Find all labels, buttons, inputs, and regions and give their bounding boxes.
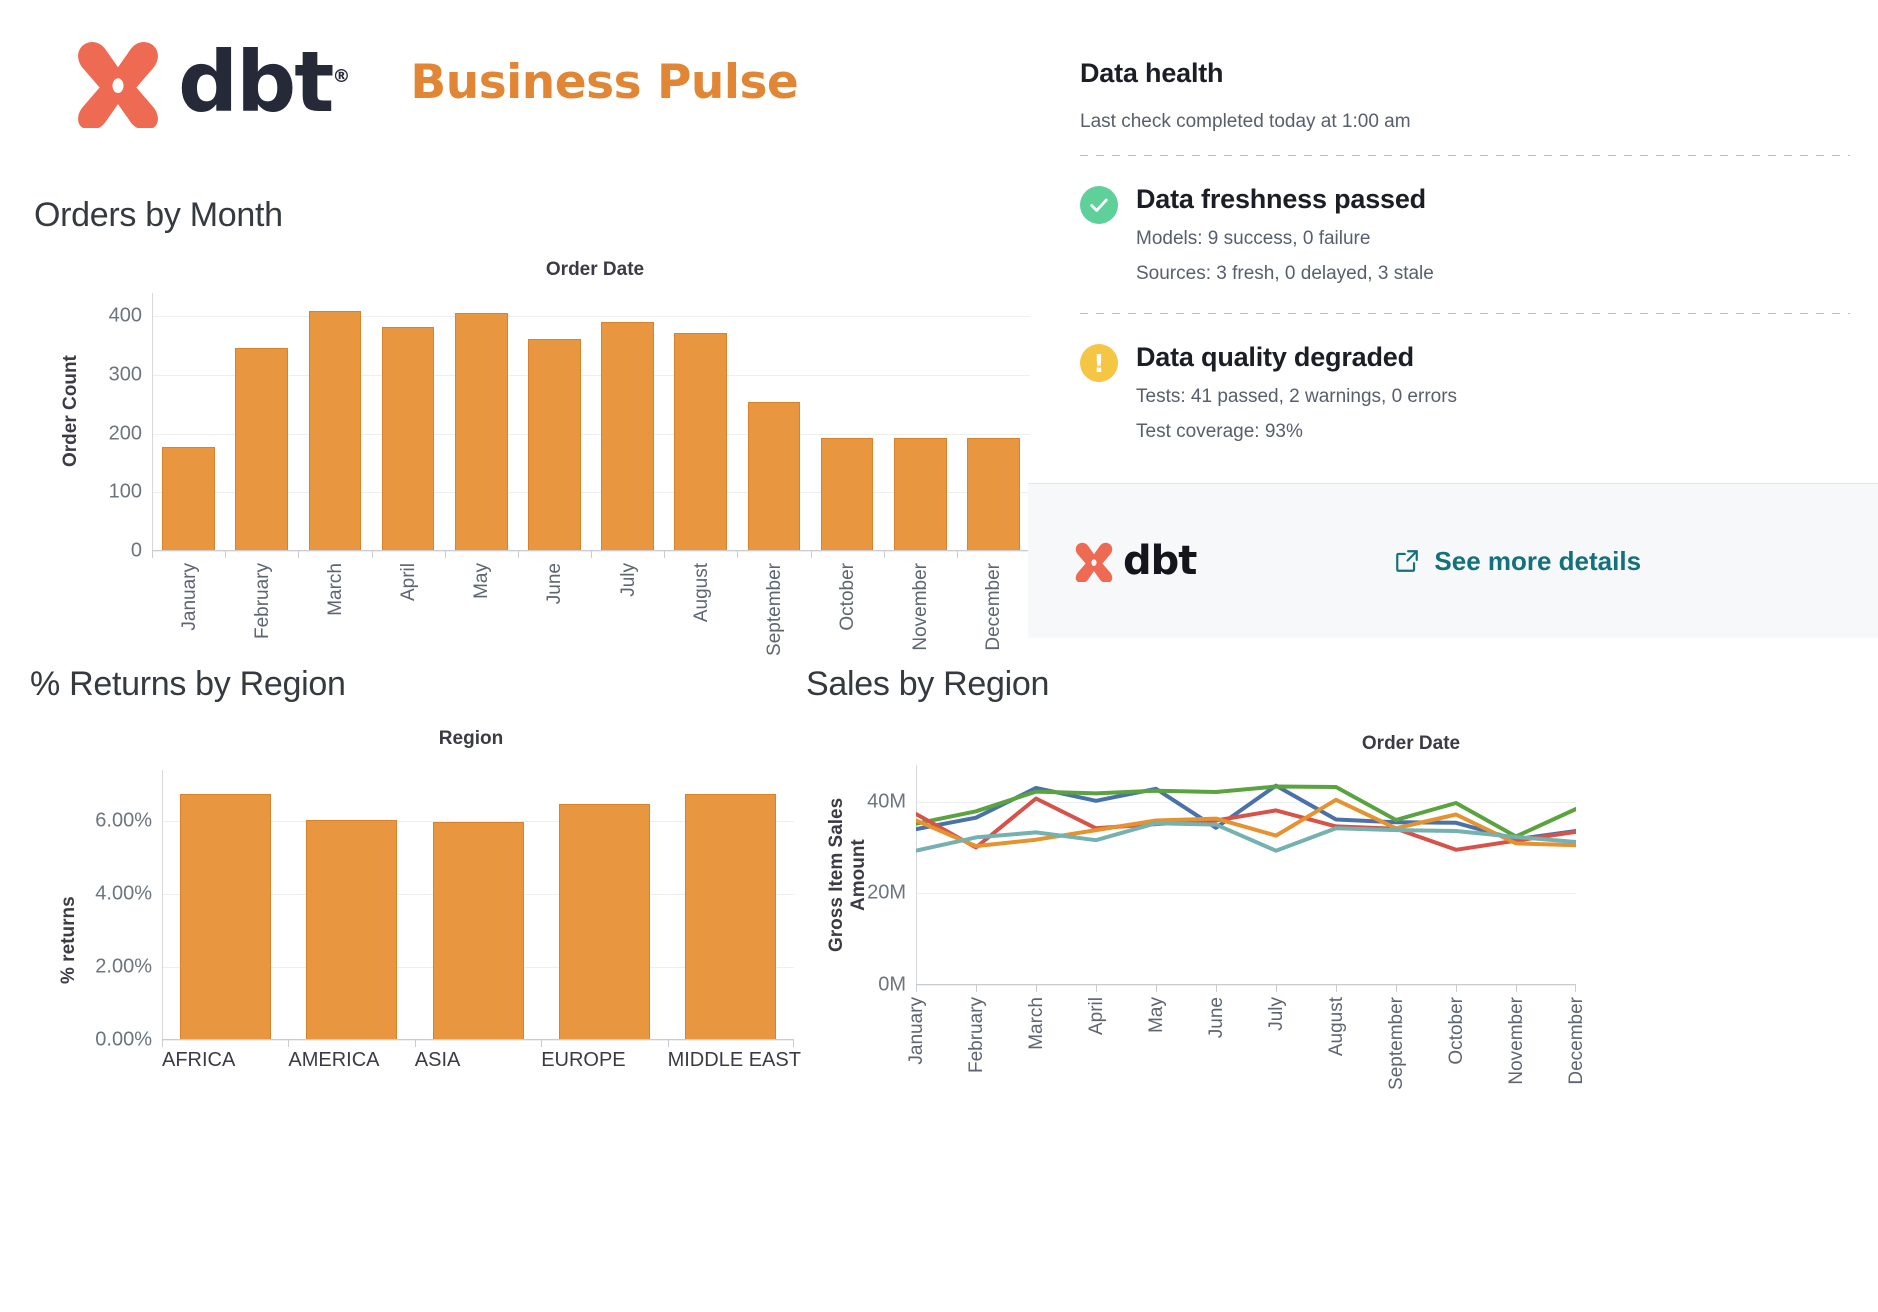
sales-y-tick-labels: 0M20M40M	[840, 765, 906, 985]
bar-cell[interactable]	[225, 293, 298, 551]
gridline	[162, 1040, 794, 1041]
x-tick-label: August	[1326, 997, 1348, 1061]
bar[interactable]	[528, 339, 581, 551]
x-tick-mark	[415, 1040, 416, 1047]
bar-cell[interactable]	[811, 293, 884, 551]
bar[interactable]	[748, 402, 801, 551]
x-tick-label: October	[837, 563, 859, 636]
bar-cell[interactable]	[518, 293, 591, 551]
bar[interactable]	[309, 311, 362, 551]
y-tick-label: 100	[109, 481, 142, 504]
dbt-wordmark-text: dbt	[178, 33, 332, 131]
x-tick-label: March	[325, 563, 347, 621]
x-tick-label: May	[471, 563, 493, 604]
bar[interactable]	[382, 327, 435, 551]
x-tick-label: January	[179, 563, 201, 636]
data-health-panel: Data health Last check completed today a…	[1080, 58, 1850, 443]
x-tick-mark	[591, 551, 592, 558]
health-freshness-heading: Data freshness passed	[1136, 184, 1434, 215]
x-tick-mark	[225, 551, 226, 558]
health-freshness-sources: Sources: 3 fresh, 0 delayed, 3 stale	[1136, 263, 1434, 285]
x-tick-mark	[957, 551, 958, 558]
bar[interactable]	[967, 438, 1020, 551]
bar-cell[interactable]	[664, 293, 737, 551]
x-tick-label: MIDDLE EAST	[668, 1049, 794, 1072]
x-tick-label: June	[544, 563, 566, 609]
x-tick-label: February	[966, 997, 988, 1078]
x-tick-label: AMERICA	[288, 1049, 414, 1072]
x-tick-label: AFRICA	[162, 1049, 288, 1072]
x-tick-mark	[162, 1040, 163, 1047]
bar-cell[interactable]	[162, 770, 288, 1040]
bar[interactable]	[433, 822, 524, 1040]
bar-cell[interactable]	[288, 770, 414, 1040]
y-tick-label: 300	[109, 364, 142, 387]
data-health-title: Data health	[1080, 58, 1850, 89]
x-tick-mark	[541, 1040, 542, 1047]
x-tick-label: September	[764, 563, 786, 661]
bar[interactable]	[685, 794, 776, 1040]
dbt-wordmark: dbt®	[178, 40, 348, 124]
bar-series	[162, 770, 794, 1040]
bar-cell[interactable]	[668, 770, 794, 1040]
x-tick-label: April	[398, 563, 420, 606]
health-quality-tests: Tests: 41 passed, 2 warnings, 0 errors	[1136, 386, 1457, 408]
y-tick-label: 20M	[867, 882, 906, 905]
x-tick-mark	[445, 551, 446, 558]
bar-cell[interactable]	[415, 770, 541, 1040]
dashboard-page: dbt® Business Pulse Orders by Month Orde…	[0, 0, 1878, 1312]
bar[interactable]	[180, 794, 271, 1040]
x-tick-label: July	[1266, 997, 1288, 1036]
y-tick-label: 200	[109, 422, 142, 445]
x-tick-mark	[1216, 985, 1217, 992]
x-tick-mark	[668, 1040, 669, 1047]
x-tick-mark	[884, 551, 885, 558]
x-tick-mark	[1156, 985, 1157, 992]
x-tick-mark	[1096, 985, 1097, 992]
y-tick-label: 0.00%	[95, 1029, 152, 1052]
bar-cell[interactable]	[591, 293, 664, 551]
exclamation-glyph: !	[1093, 351, 1104, 376]
y-tick-label: 2.00%	[95, 956, 152, 979]
dbt-trademark: ®	[332, 66, 348, 87]
x-tick-mark	[372, 551, 373, 558]
bar[interactable]	[821, 438, 874, 551]
health-item-body: Data quality degraded Tests: 41 passed, …	[1136, 342, 1457, 443]
dbt-x-mark-icon	[72, 36, 164, 128]
data-health-footer: dbt See more details	[1028, 483, 1878, 638]
returns-column-title: Region	[146, 728, 796, 750]
y-tick-label: 0M	[878, 974, 906, 997]
x-tick-label: May	[1146, 997, 1168, 1038]
x-tick-mark	[737, 551, 738, 558]
y-tick-label: 40M	[867, 790, 906, 813]
x-tick-label: March	[1026, 997, 1048, 1055]
bar[interactable]	[601, 322, 654, 551]
bar-series	[152, 293, 1030, 551]
sales-column-title: Order Date	[966, 733, 1856, 755]
x-tick-mark	[976, 985, 977, 992]
health-freshness-models: Models: 9 success, 0 failure	[1136, 228, 1434, 250]
bar-cell[interactable]	[445, 293, 518, 551]
external-link-icon	[1394, 548, 1420, 574]
bar-cell[interactable]	[152, 293, 225, 551]
x-tick-mark	[1575, 985, 1576, 992]
x-tick-label: January	[906, 997, 928, 1070]
x-tick-mark	[811, 551, 812, 558]
divider	[1080, 155, 1850, 156]
x-tick-mark	[916, 985, 917, 992]
x-tick-mark	[1276, 985, 1277, 992]
footer-dbt-logo: dbt	[1073, 540, 1196, 582]
bar[interactable]	[894, 438, 947, 551]
orders-y-tick-labels: 0100200300400	[76, 293, 142, 551]
returns-by-region-chart: % Returns by Region Region % returns 0.0…	[26, 665, 826, 1105]
x-axis-line	[162, 1039, 794, 1040]
sales-plot-area	[916, 765, 1576, 985]
bar[interactable]	[235, 348, 288, 551]
x-tick-label: July	[618, 563, 640, 602]
bar-cell[interactable]	[541, 770, 667, 1040]
sales-chart-title: Sales by Region	[806, 665, 1049, 704]
returns-chart-title: % Returns by Region	[30, 665, 346, 704]
x-tick-label: April	[1086, 997, 1108, 1040]
warning-circle-icon: !	[1080, 344, 1118, 382]
x-tick-mark	[152, 551, 153, 558]
x-tick-mark	[793, 1040, 794, 1047]
health-item-freshness: Data freshness passed Models: 9 success,…	[1080, 184, 1850, 285]
orders-by-month-chart: Orders by Month Order Date Order Count 0…	[30, 196, 1030, 646]
check-circle-icon	[1080, 186, 1118, 224]
returns-y-tick-labels: 0.00%2.00%4.00%6.00%	[68, 770, 152, 1040]
health-quality-coverage: Test coverage: 93%	[1136, 421, 1457, 443]
data-health-subtitle: Last check completed today at 1:00 am	[1080, 111, 1850, 133]
y-tick-label: 0	[131, 540, 142, 563]
x-tick-mark	[1516, 985, 1517, 992]
see-more-details-label: See more details	[1434, 546, 1641, 577]
health-item-quality: ! Data quality degraded Tests: 41 passed…	[1080, 342, 1850, 443]
footer-dbt-wordmark: dbt	[1123, 541, 1196, 581]
divider	[1080, 313, 1850, 314]
x-axis-line	[916, 984, 1576, 985]
dashboard-header: dbt® Business Pulse	[72, 36, 798, 128]
orders-plot-area	[152, 293, 1030, 551]
x-tick-label: December	[983, 563, 1005, 656]
x-tick-mark	[518, 551, 519, 558]
see-more-details-link[interactable]: See more details	[1394, 546, 1641, 577]
orders-chart-title: Orders by Month	[34, 196, 283, 235]
bar-cell[interactable]	[957, 293, 1030, 551]
line-series-group	[916, 765, 1576, 985]
x-tick-mark	[664, 551, 665, 558]
x-tick-label: October	[1446, 997, 1468, 1070]
x-tick-mark	[1336, 985, 1337, 992]
x-tick-label: August	[691, 563, 713, 627]
x-tick-mark	[1396, 985, 1397, 992]
returns-x-tick-labels: AFRICAAMERICAASIAEUROPEMIDDLE EAST	[162, 1049, 794, 1089]
sales-x-tick-labels: JanuaryFebruaryMarchAprilMayJuneJulyAugu…	[916, 997, 1576, 1117]
x-tick-label: December	[1566, 997, 1588, 1090]
bar[interactable]	[162, 447, 215, 551]
dbt-logo: dbt®	[72, 36, 348, 128]
page-title: Business Pulse	[410, 55, 798, 110]
x-tick-label: June	[1206, 997, 1228, 1043]
returns-plot-area	[162, 770, 794, 1040]
x-tick-mark	[298, 551, 299, 558]
gridline	[916, 985, 1576, 986]
x-tick-mark	[1456, 985, 1457, 992]
bar-cell[interactable]	[737, 293, 810, 551]
x-tick-label: November	[910, 563, 932, 656]
y-tick-label: 400	[109, 305, 142, 328]
bar[interactable]	[559, 804, 650, 1040]
y-tick-label: 4.00%	[95, 883, 152, 906]
x-tick-label: September	[1386, 997, 1408, 1095]
x-tick-mark	[288, 1040, 289, 1047]
x-tick-mark	[1036, 985, 1037, 992]
orders-plot-wrapper: Order Date Order Count 0100200300400 Jan…	[30, 251, 1030, 651]
y-tick-label: 6.00%	[95, 810, 152, 833]
bar[interactable]	[674, 333, 727, 551]
x-tick-label: ASIA	[415, 1049, 541, 1072]
bar-cell[interactable]	[372, 293, 445, 551]
bar-cell[interactable]	[884, 293, 957, 551]
x-tick-label: February	[252, 563, 274, 644]
x-tick-label: November	[1506, 997, 1528, 1090]
sales-by-region-chart: Sales by Region Order Date Gross Item Sa…	[806, 665, 1876, 1115]
bar[interactable]	[306, 820, 397, 1040]
bar[interactable]	[455, 313, 508, 551]
x-tick-label: EUROPE	[541, 1049, 667, 1072]
dbt-x-mark-icon	[1073, 540, 1115, 582]
health-item-body: Data freshness passed Models: 9 success,…	[1136, 184, 1434, 285]
orders-column-title: Order Date	[150, 259, 1040, 281]
health-quality-heading: Data quality degraded	[1136, 342, 1457, 373]
bar-cell[interactable]	[298, 293, 371, 551]
